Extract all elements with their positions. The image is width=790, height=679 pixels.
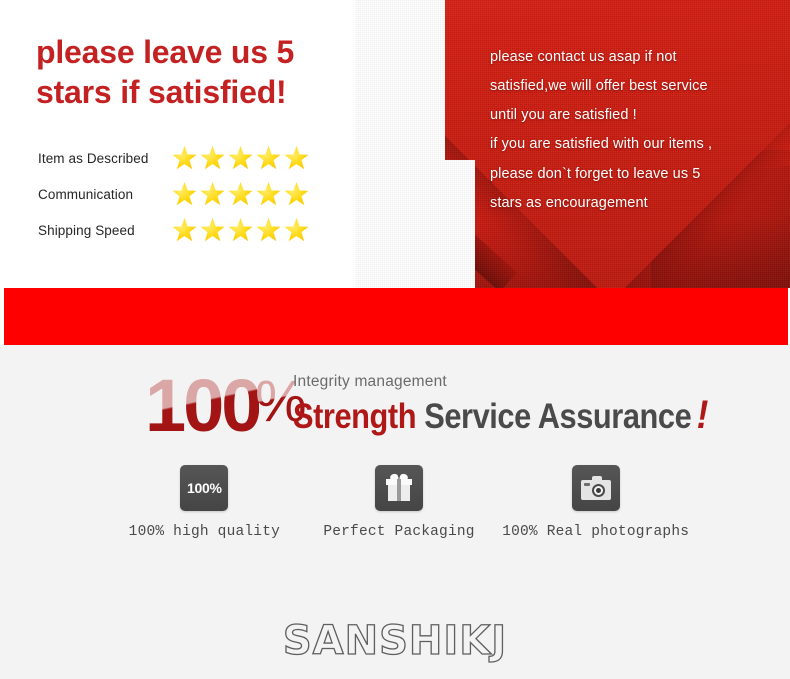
gift-ribbon (397, 479, 401, 501)
rating-list: Item as Described Communication (38, 140, 309, 248)
rating-row: Shipping Speed (38, 212, 309, 248)
service-message-line: if you are satisfied with our items , (490, 135, 775, 153)
star-icon (228, 182, 253, 207)
star-icon (172, 146, 197, 171)
top-section: please contact us asap if not satisfied,… (0, 0, 790, 288)
brand-wordmark: SANSHIKJ (0, 618, 790, 664)
banner-title-strength: Strength (293, 397, 416, 436)
banner-exclamation: ! (691, 393, 708, 437)
camera-lens-center (596, 488, 601, 493)
star-icon (172, 218, 197, 243)
service-message-line: satisfied,we will offer best service (490, 77, 775, 95)
rating-row: Item as Described (38, 140, 309, 176)
star-rating (172, 146, 309, 171)
feature-label: 100% Real photographs (502, 524, 689, 540)
camera-flash (584, 483, 590, 486)
star-icon (256, 218, 281, 243)
banner-title-service: Service Assurance (424, 397, 691, 436)
star-icon (200, 218, 225, 243)
red-divider-band (4, 288, 788, 345)
star-icon (256, 182, 281, 207)
star-icon (256, 146, 281, 171)
star-icon (200, 182, 225, 207)
bottom-section: 100 % Integrity management Strength Serv… (0, 345, 790, 679)
feature-item-quality: 100% 100% high quality (110, 465, 299, 540)
rating-label: Item as Described (38, 151, 168, 166)
rating-label: Shipping Speed (38, 223, 168, 238)
star-icon (172, 182, 197, 207)
service-message-line: until you are satisfied ! (490, 106, 775, 124)
rating-label: Communication (38, 187, 168, 202)
star-icon (284, 146, 309, 171)
star-icon (284, 218, 309, 243)
service-message: please contact us asap if not satisfied,… (490, 48, 775, 223)
feature-item-packaging: Perfect Packaging (305, 465, 494, 540)
rating-row: Communication (38, 176, 309, 212)
service-message-line: please contact us asap if not (490, 48, 775, 66)
star-rating (172, 182, 309, 207)
banner-subtitle: Integrity management (293, 373, 447, 391)
promo-banner-page: please contact us asap if not satisfied,… (0, 0, 790, 679)
feature-item-photos: 100% Real photographs (501, 465, 690, 540)
percent-badge-icon: 100% (180, 465, 228, 511)
feature-label: 100% high quality (129, 524, 280, 540)
banner-title: Strength Service Assurance! (293, 395, 708, 435)
camera-icon (572, 465, 620, 511)
gift-box-icon (375, 465, 423, 511)
headline: please leave us 5 stars if satisfied! (36, 32, 366, 113)
service-message-line: stars as encouragement (490, 194, 775, 212)
assurance-banner: 100 % Integrity management Strength Serv… (145, 371, 705, 449)
star-icon (284, 182, 309, 207)
service-message-line: please don`t forget to leave us 5 (490, 165, 775, 183)
star-rating (172, 218, 309, 243)
feature-list: 100% 100% high quality Perfect Packaging (110, 465, 690, 540)
photo-left-notch-mask (355, 160, 475, 288)
feature-label: Perfect Packaging (323, 524, 474, 540)
star-icon (228, 218, 253, 243)
star-icon (200, 146, 225, 171)
star-icon (228, 146, 253, 171)
percent-badge-text: 100% (187, 480, 222, 496)
hundred-number: 100 (145, 369, 259, 443)
